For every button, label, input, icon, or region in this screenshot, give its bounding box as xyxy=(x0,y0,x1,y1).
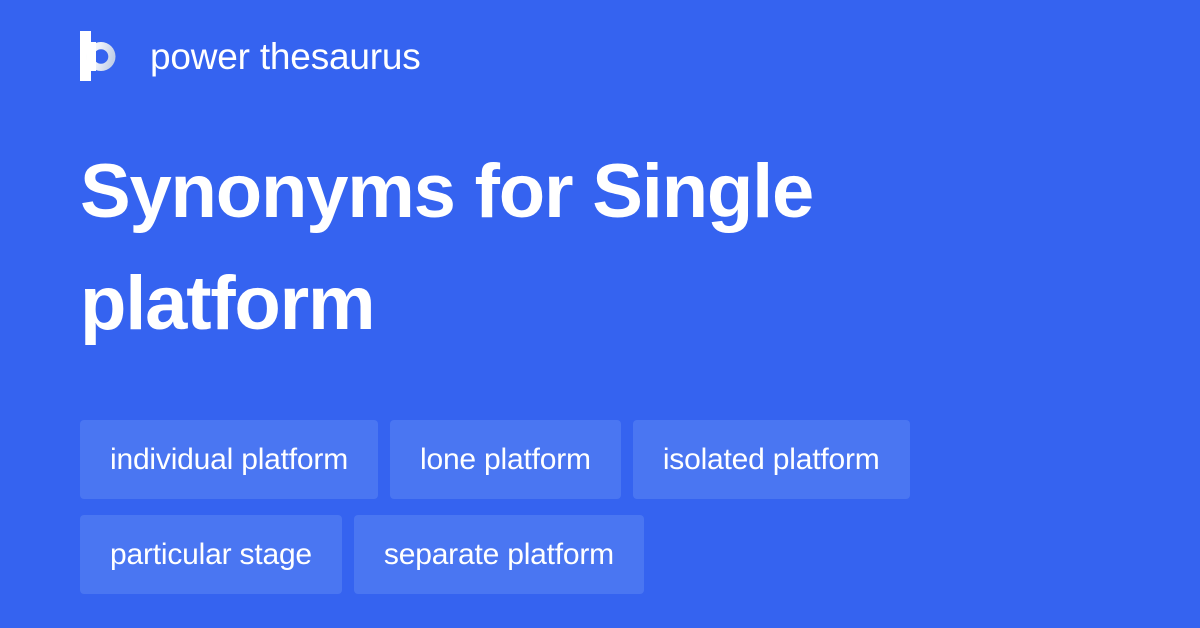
brand-header[interactable]: power thesaurus xyxy=(80,30,421,82)
synonym-chip-list: individual platform lone platform isolat… xyxy=(80,420,1130,594)
synonym-chip[interactable]: lone platform xyxy=(390,420,621,499)
synonym-chip[interactable]: separate platform xyxy=(354,515,644,594)
power-thesaurus-b-logo-icon xyxy=(80,31,126,81)
share-card: power thesaurus Synonyms for Single plat… xyxy=(0,0,1200,628)
synonym-chip[interactable]: particular stage xyxy=(80,515,342,594)
page-title: Synonyms for Single platform xyxy=(80,136,1080,360)
synonym-chip[interactable]: individual platform xyxy=(80,420,378,499)
brand-name: power thesaurus xyxy=(150,38,421,75)
synonym-chip[interactable]: isolated platform xyxy=(633,420,910,499)
